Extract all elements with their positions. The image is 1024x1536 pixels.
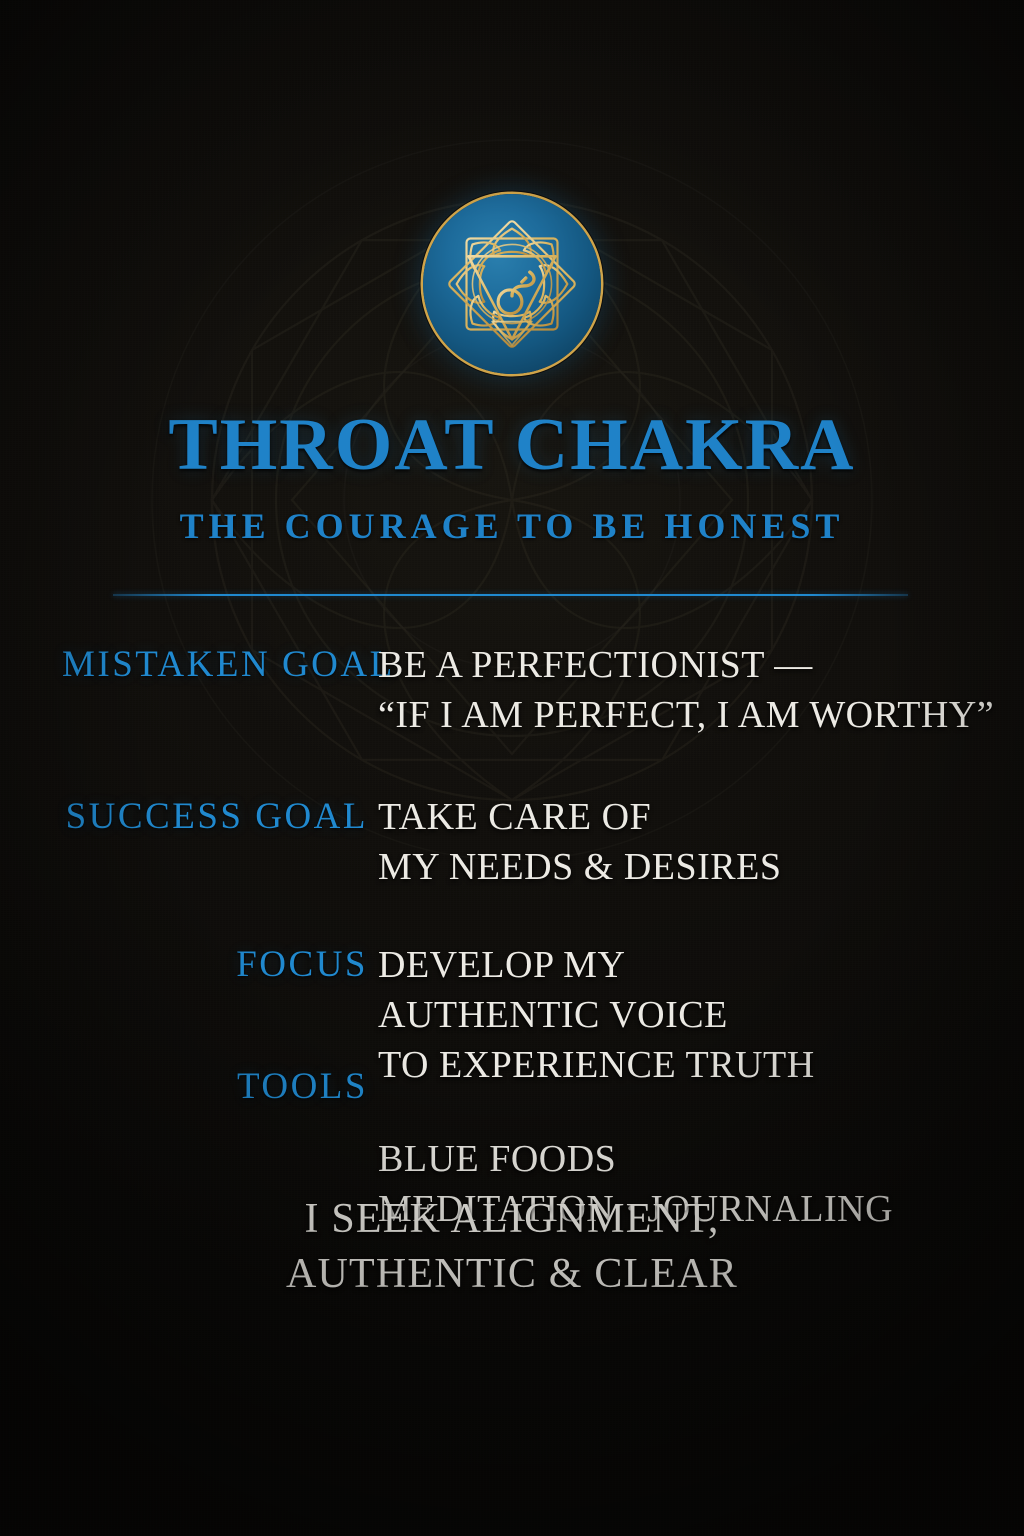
- affirmation-line: I SEEK ALIGNMENT,: [0, 1192, 1024, 1247]
- emblem-container: [0, 194, 1024, 374]
- row-line: BLUE FOODS: [378, 1134, 1024, 1184]
- row-line: AUTHENTIC VOICE: [378, 990, 1024, 1040]
- row-label-mistaken-goal: MISTAKEN GOAL: [62, 640, 368, 690]
- chakra-poster: THROAT CHAKRA THE COURAGE TO BE HONEST M…: [0, 0, 1024, 1536]
- row-mistaken-goal: MISTAKEN GOAL BE A PERFECTIONIST — “IF I…: [0, 640, 1024, 740]
- page-title: THROAT CHAKRA: [0, 408, 1024, 482]
- row-value-mistaken-goal: BE A PERFECTIONIST — “IF I AM PERFECT, I…: [368, 640, 1024, 740]
- row-label-focus: FOCUS: [62, 940, 368, 990]
- affirmation-line: AUTHENTIC & CLEAR: [0, 1247, 1024, 1302]
- row-label-tools: TOOLS: [62, 1062, 368, 1112]
- row-line: MY NEEDS & DESIRES: [378, 842, 1024, 892]
- row-line: BE A PERFECTIONIST —: [378, 640, 1024, 690]
- row-line: TAKE CARE OF: [378, 792, 1024, 842]
- row-success-goal: SUCCESS GOAL TAKE CARE OF MY NEEDS & DES…: [0, 792, 1024, 892]
- throat-chakra-emblem-icon: [423, 194, 601, 374]
- row-line: DEVELOP MY: [378, 940, 1024, 990]
- row-value-success-goal: TAKE CARE OF MY NEEDS & DESIRES: [368, 792, 1024, 892]
- row-line: “IF I AM PERFECT, I AM WORTHY”: [378, 690, 1024, 740]
- page-subtitle: THE COURAGE TO BE HONEST: [0, 508, 1024, 544]
- affirmation-text: I SEEK ALIGNMENT, AUTHENTIC & CLEAR: [0, 1192, 1024, 1302]
- row-label-success-goal: SUCCESS GOAL: [62, 792, 368, 842]
- header-divider: [113, 594, 908, 596]
- detail-rows: MISTAKEN GOAL BE A PERFECTIONIST — “IF I…: [0, 640, 1024, 1234]
